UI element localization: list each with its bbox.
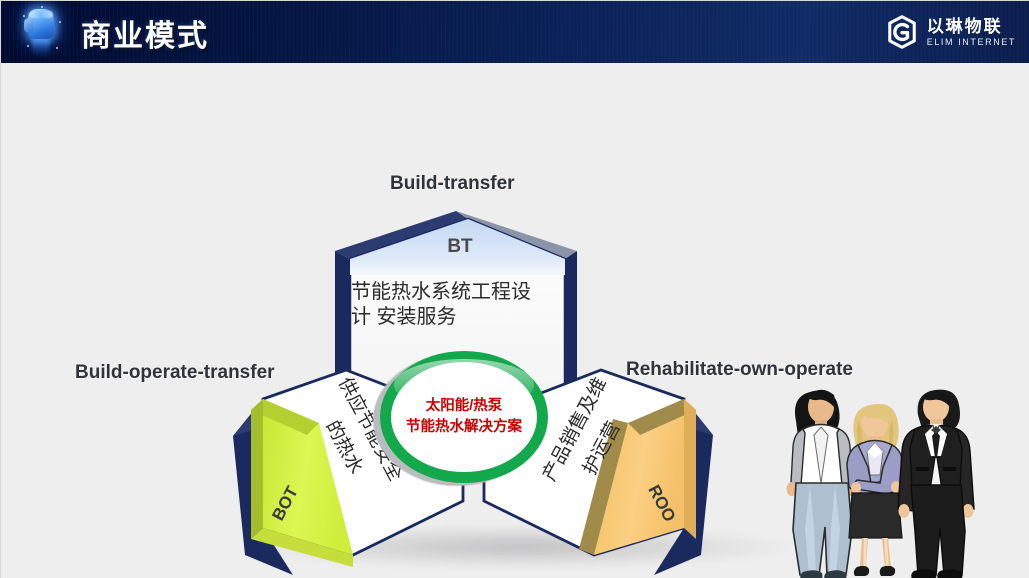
company-logo: 以琳物联 ELIM INTERNET (885, 10, 1016, 54)
glowing-fist-icon (11, 1, 73, 63)
hex-roo-band-right-side (684, 399, 696, 539)
hex-bt-bevel-right (565, 251, 577, 393)
logo-english-name: ELIM INTERNET (927, 38, 1016, 47)
person-woman-center (847, 404, 903, 576)
hex-bt-badge: BT (447, 236, 473, 257)
business-people-illustration (763, 363, 995, 578)
slide: 商业模式 以琳物联 ELIM INTERNET Build-transfer B… (0, 0, 1029, 578)
hex-bot-band-left-side (251, 399, 263, 539)
hex-bt-line1: 节能热水系统工程设 (351, 280, 531, 303)
slide-header: 商业模式 以琳物联 ELIM INTERNET (1, 1, 1029, 63)
person-woman-left (787, 390, 857, 578)
hex-bt-line2: 计 安装服务 (351, 305, 457, 328)
center-solution-badge[interactable]: 太阳能/热泵 节能热水解决方案 (380, 351, 548, 483)
person-man-right (898, 390, 974, 578)
logo-chinese-name: 以琳物联 (927, 18, 1016, 35)
center-line-1: 太阳能/热泵 (426, 396, 503, 417)
page-title: 商业模式 (81, 11, 209, 55)
slide-body: Build-transfer Build-operate-transfer Re… (1, 63, 1029, 578)
elim-g-mark-icon (885, 15, 919, 49)
center-line-2: 节能热水解决方案 (406, 417, 522, 438)
